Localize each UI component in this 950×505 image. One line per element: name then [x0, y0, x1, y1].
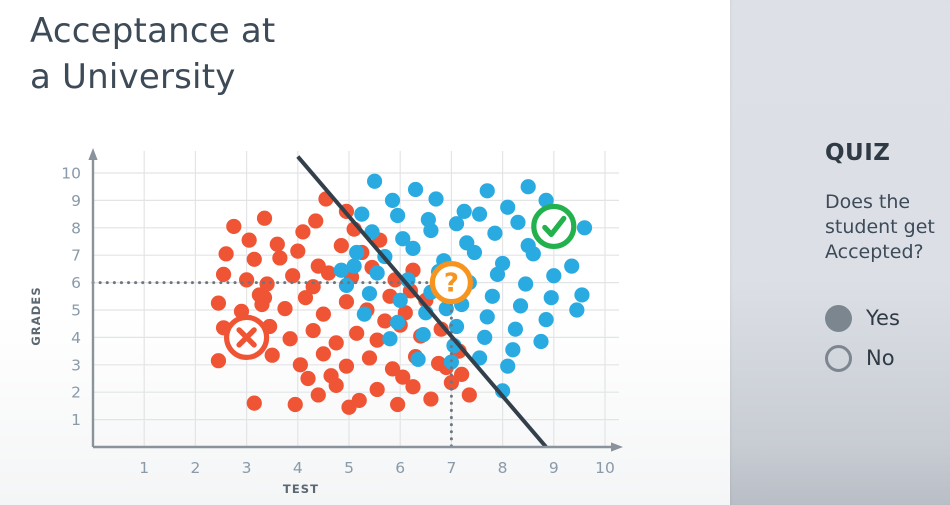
data-point — [405, 241, 420, 256]
data-point — [485, 289, 500, 304]
data-point — [513, 298, 528, 313]
data-point — [354, 207, 369, 222]
data-point — [277, 301, 292, 316]
x-tick-label: 5 — [344, 459, 354, 477]
data-point — [288, 397, 303, 412]
data-point — [311, 387, 326, 402]
quiz-panel: QUIZ Does the student get Accepted? Yes … — [730, 0, 950, 505]
data-point — [362, 286, 377, 301]
data-point — [377, 313, 392, 328]
data-point — [334, 238, 349, 253]
data-point — [370, 382, 385, 397]
data-points-group — [211, 174, 592, 415]
data-point — [390, 397, 405, 412]
data-point — [349, 245, 364, 260]
data-point — [393, 293, 408, 308]
data-point — [247, 396, 262, 411]
data-point — [323, 368, 338, 383]
y-tick-label: 5 — [71, 302, 81, 320]
x-tick-label: 10 — [595, 459, 615, 477]
data-point — [295, 224, 310, 239]
data-point — [390, 208, 405, 223]
data-point — [334, 263, 349, 278]
data-point — [508, 322, 523, 337]
data-point — [472, 207, 487, 222]
data-point — [423, 223, 438, 238]
y-tick-label: 10 — [61, 165, 81, 183]
x-tick-label: 8 — [498, 459, 508, 477]
data-point — [518, 276, 533, 291]
y-tick-label: 2 — [71, 384, 81, 402]
data-point — [370, 265, 385, 280]
x-tick-label: 4 — [293, 459, 303, 477]
data-point — [480, 309, 495, 324]
data-point — [211, 353, 226, 368]
data-point — [577, 220, 592, 235]
data-point — [539, 312, 554, 327]
data-point — [306, 323, 321, 338]
quiz-heading: QUIZ — [825, 140, 890, 166]
data-point — [411, 352, 426, 367]
data-point — [449, 216, 464, 231]
quiz-question: Does the student get Accepted? — [825, 190, 950, 265]
data-point — [395, 370, 410, 385]
data-point — [329, 335, 344, 350]
x-tick-label: 9 — [549, 459, 559, 477]
data-point — [216, 267, 231, 282]
data-point — [533, 334, 548, 349]
x-tick-label: 6 — [395, 459, 405, 477]
data-point — [487, 226, 502, 241]
x-tick-label: 1 — [139, 459, 149, 477]
data-point — [339, 359, 354, 374]
data-point — [219, 246, 234, 261]
data-point — [500, 200, 515, 215]
data-point — [257, 211, 272, 226]
data-point — [490, 267, 505, 282]
data-point — [385, 193, 400, 208]
data-point — [521, 179, 536, 194]
data-point — [357, 307, 372, 322]
data-point — [390, 315, 405, 330]
data-point — [290, 243, 305, 258]
data-point — [341, 400, 356, 415]
quiz-option-yes[interactable]: Yes — [825, 305, 900, 332]
data-point — [505, 342, 520, 357]
quiz-option-yes-label: Yes — [866, 305, 900, 332]
data-point — [211, 296, 226, 311]
radio-empty-icon[interactable] — [825, 345, 852, 372]
data-point — [265, 348, 280, 363]
data-point — [462, 387, 477, 402]
data-point — [226, 219, 241, 234]
data-point — [270, 237, 285, 252]
data-point — [574, 287, 589, 302]
data-point — [367, 174, 382, 189]
y-tick-label: 6 — [71, 274, 81, 292]
data-point — [283, 331, 298, 346]
radio-filled-icon[interactable] — [825, 305, 852, 332]
data-point — [467, 245, 482, 260]
x-axis-arrow-icon — [611, 442, 623, 451]
data-point — [500, 359, 515, 374]
slide-root: Acceptance at a University 1234567891012… — [0, 0, 950, 505]
slide-body: Acceptance at a University 1234567891012… — [0, 0, 730, 505]
data-point — [300, 371, 315, 386]
data-point — [382, 331, 397, 346]
data-point — [285, 268, 300, 283]
question-mark-icon: ? — [444, 269, 459, 299]
data-point — [239, 272, 254, 287]
data-point — [298, 290, 313, 305]
data-point — [316, 346, 331, 361]
quiz-option-no[interactable]: No — [825, 345, 895, 372]
data-point — [510, 215, 525, 230]
data-point — [546, 268, 561, 283]
data-point — [242, 233, 257, 248]
data-point — [477, 330, 492, 345]
data-point — [423, 391, 438, 406]
y-tick-label: 4 — [71, 329, 81, 347]
data-point — [247, 252, 262, 267]
data-point — [308, 213, 323, 228]
x-tick-label: 3 — [242, 459, 252, 477]
x-axis-title: TEST — [283, 482, 319, 496]
data-point — [544, 290, 559, 305]
data-point — [349, 326, 364, 341]
data-point — [316, 307, 331, 322]
x-tick-label: 7 — [446, 459, 456, 477]
data-point — [339, 278, 354, 293]
y-tick-label: 7 — [71, 247, 81, 265]
data-point — [254, 297, 269, 312]
data-point — [362, 350, 377, 365]
data-point — [569, 302, 584, 317]
y-axis-title: GRADES — [29, 286, 43, 345]
y-tick-label: 8 — [71, 219, 81, 237]
y-tick-label: 1 — [71, 411, 81, 429]
x-tick-label: 2 — [190, 459, 200, 477]
data-point — [293, 357, 308, 372]
data-point — [454, 367, 469, 382]
data-point — [416, 327, 431, 342]
data-point — [428, 191, 443, 206]
data-point — [339, 294, 354, 309]
y-tick-label: 9 — [71, 192, 81, 210]
quiz-option-no-label: No — [866, 345, 895, 372]
scatter-plot: 1234567891012345678910TESTGRADES? — [0, 0, 730, 505]
data-point — [480, 183, 495, 198]
y-tick-label: 3 — [71, 356, 81, 374]
chart-canvas: 1234567891012345678910TESTGRADES? — [0, 0, 730, 505]
data-point — [272, 250, 287, 265]
y-axis-arrow-icon — [88, 148, 97, 160]
data-point — [564, 259, 579, 274]
data-point — [526, 246, 541, 261]
data-point — [408, 182, 423, 197]
data-point — [370, 333, 385, 348]
data-point — [321, 265, 336, 280]
